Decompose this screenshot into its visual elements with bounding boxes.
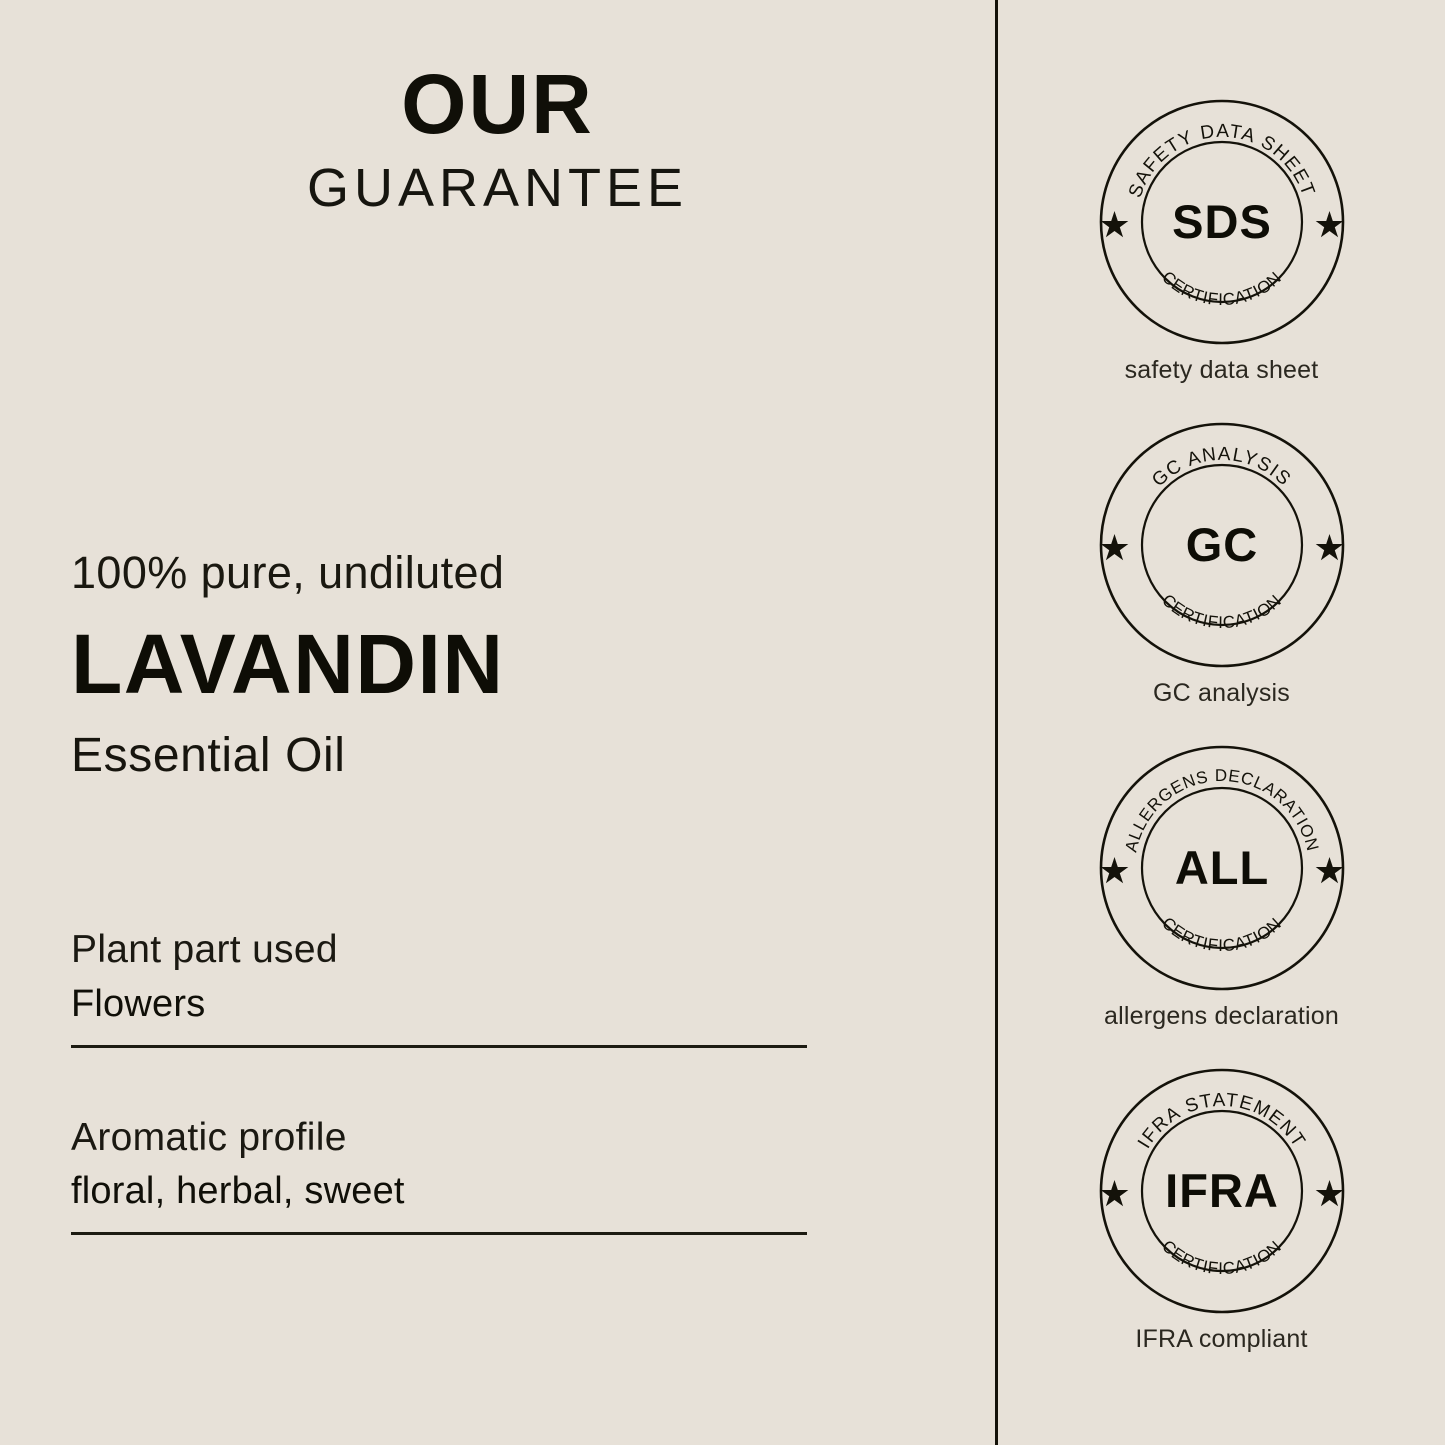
badge-arc-bottom: CERTIFICATION: [1158, 590, 1286, 632]
star-icon: [1315, 211, 1343, 237]
product-identity: 100% pure, undiluted LAVANDIN Essential …: [71, 548, 891, 782]
certification-badge-list: SAFETY DATA SHEET CERTIFICATION SDS safe…: [998, 98, 1445, 1390]
title-line-our: OUR: [0, 62, 995, 146]
star-icon: [1100, 857, 1128, 883]
badge-seal-icon: SAFETY DATA SHEET CERTIFICATION SDS: [1098, 98, 1346, 346]
title-line-guarantee: GUARANTEE: [0, 160, 995, 217]
attribute-divider: [71, 1045, 807, 1048]
badge-arc-bottom: CERTIFICATION: [1158, 913, 1286, 955]
star-icon: [1315, 1180, 1343, 1206]
badge-seal-icon: ALLERGENS DECLARATION CERTIFICATION ALL: [1098, 744, 1346, 992]
right-panel: SAFETY DATA SHEET CERTIFICATION SDS safe…: [998, 0, 1445, 1445]
svg-text:IFRA STATEMENT: IFRA STATEMENT: [1134, 1090, 1310, 1153]
certification-badge-sds: SAFETY DATA SHEET CERTIFICATION SDS safe…: [998, 98, 1445, 421]
product-type: Essential Oil: [71, 730, 891, 783]
product-purity: 100% pure, undiluted: [71, 548, 891, 598]
star-icon: [1315, 857, 1343, 883]
svg-text:CERTIFICATION: CERTIFICATION: [1158, 913, 1286, 955]
attribute-aromatic-profile: Aromatic profile floral, herbal, sweet: [71, 1116, 807, 1236]
attribute-label: Plant part used: [71, 928, 807, 973]
badge-acronym: ALL: [1174, 841, 1268, 894]
badge-caption: allergens declaration: [998, 1002, 1445, 1031]
guarantee-infographic: OUR GUARANTEE 100% pure, undiluted LAVAN…: [0, 0, 1445, 1445]
badge-acronym: GC: [1185, 518, 1258, 571]
attribute-list: Plant part used Flowers Aromatic profile…: [71, 928, 807, 1235]
certification-badge-ifra: IFRA STATEMENT CERTIFICATION IFRA IFRA c…: [998, 1067, 1445, 1390]
star-icon: [1100, 211, 1128, 237]
star-icon: [1100, 534, 1128, 560]
svg-text:SAFETY DATA SHEET: SAFETY DATA SHEET: [1124, 121, 1318, 201]
svg-text:CERTIFICATION: CERTIFICATION: [1158, 590, 1286, 632]
badge-caption: GC analysis: [998, 679, 1445, 708]
badge-acronym: SDS: [1172, 195, 1272, 248]
product-name: LAVANDIN: [71, 620, 891, 708]
badge-arc-top: SAFETY DATA SHEET: [1124, 121, 1318, 201]
svg-text:CERTIFICATION: CERTIFICATION: [1158, 267, 1286, 309]
attribute-plant-part-used: Plant part used Flowers: [71, 928, 807, 1048]
star-icon: [1315, 534, 1343, 560]
svg-text:CERTIFICATION: CERTIFICATION: [1158, 1236, 1286, 1278]
attribute-label: Aromatic profile: [71, 1116, 807, 1161]
badge-acronym: IFRA: [1165, 1164, 1279, 1217]
badge-arc-bottom: CERTIFICATION: [1158, 267, 1286, 309]
left-panel: OUR GUARANTEE 100% pure, undiluted LAVAN…: [0, 0, 995, 1445]
attribute-value: floral, herbal, sweet: [71, 1170, 807, 1214]
badge-seal-icon: GC ANALYSIS CERTIFICATION GC: [1098, 421, 1346, 669]
page-title: OUR GUARANTEE: [0, 62, 995, 217]
badge-arc-top: IFRA STATEMENT: [1134, 1090, 1310, 1153]
certification-badge-gc: GC ANALYSIS CERTIFICATION GC GC analysis: [998, 421, 1445, 744]
badge-caption: safety data sheet: [998, 356, 1445, 385]
badge-seal-icon: IFRA STATEMENT CERTIFICATION IFRA: [1098, 1067, 1346, 1315]
attribute-value: Flowers: [71, 983, 807, 1027]
attribute-divider: [71, 1232, 807, 1235]
star-icon: [1100, 1180, 1128, 1206]
badge-arc-bottom: CERTIFICATION: [1158, 1236, 1286, 1278]
certification-badge-allergens: ALLERGENS DECLARATION CERTIFICATION ALL …: [998, 744, 1445, 1067]
badge-caption: IFRA compliant: [998, 1325, 1445, 1354]
